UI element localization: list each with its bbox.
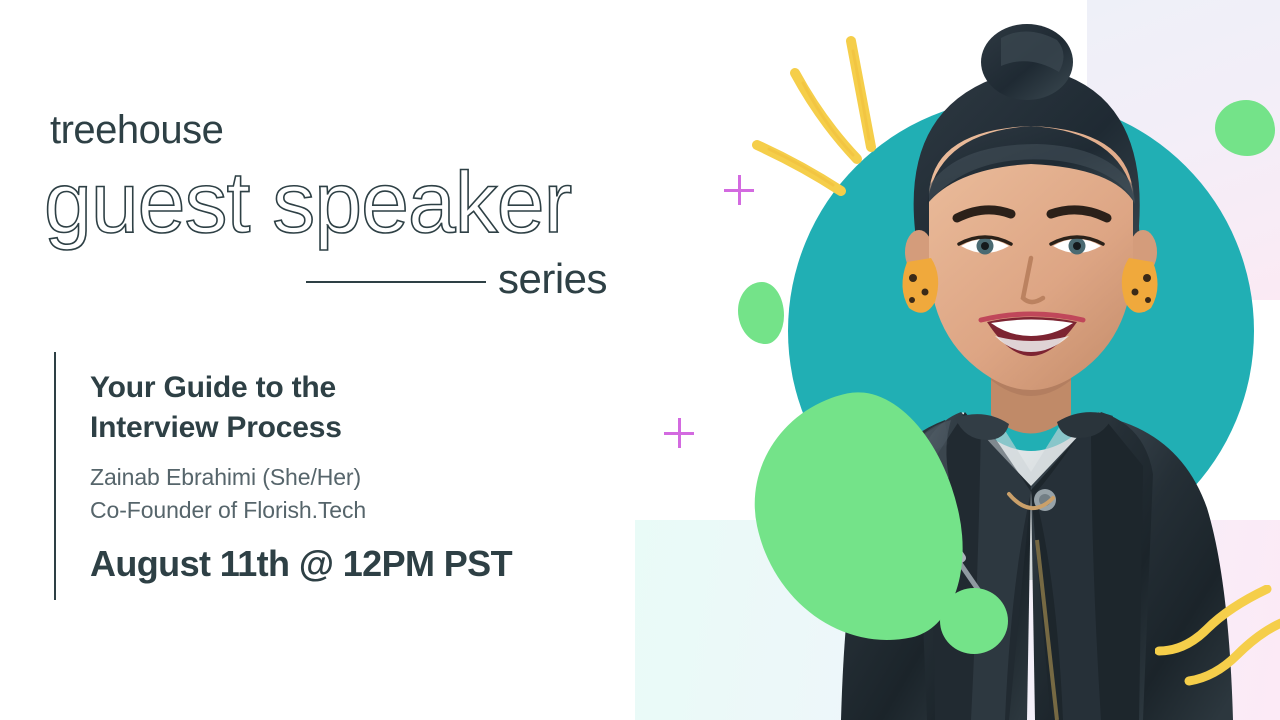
speaker-block: Zainab Ebrahimi (She/Her) Co-Founder of …	[90, 461, 630, 526]
green-blob-left-small	[738, 282, 784, 344]
yellow-burst-strokes-icon	[745, 25, 905, 225]
earring-right	[1122, 258, 1158, 313]
event-title-line1: Your Guide to the	[90, 368, 630, 408]
series-divider-rule	[306, 281, 486, 283]
headline-guest-speaker: guest speaker	[44, 158, 571, 248]
series-label: series	[498, 255, 607, 303]
brand-wordmark: treehouse	[50, 108, 223, 153]
event-datetime: August 11th @ 12PM PST	[90, 543, 630, 585]
speaker-name: Zainab Ebrahimi (She/Her)	[90, 461, 630, 494]
yellow-wave-strokes-icon	[1155, 585, 1280, 689]
event-title-line2: Interview Process	[90, 408, 630, 448]
green-blob-top-right	[1215, 100, 1275, 156]
details-vertical-rule	[54, 352, 56, 600]
event-details: Your Guide to the Interview Process Zain…	[90, 368, 630, 585]
series-row: series	[300, 255, 630, 307]
plus-mark-lower-icon	[664, 418, 694, 448]
speaker-role: Co-Founder of Florish.Tech	[90, 494, 630, 527]
earring-left	[902, 258, 938, 313]
promo-slide: treehouse guest speaker series Your Guid…	[0, 0, 1280, 720]
green-blob-bottom-circle	[940, 588, 1008, 654]
event-title: Your Guide to the Interview Process	[90, 368, 630, 447]
